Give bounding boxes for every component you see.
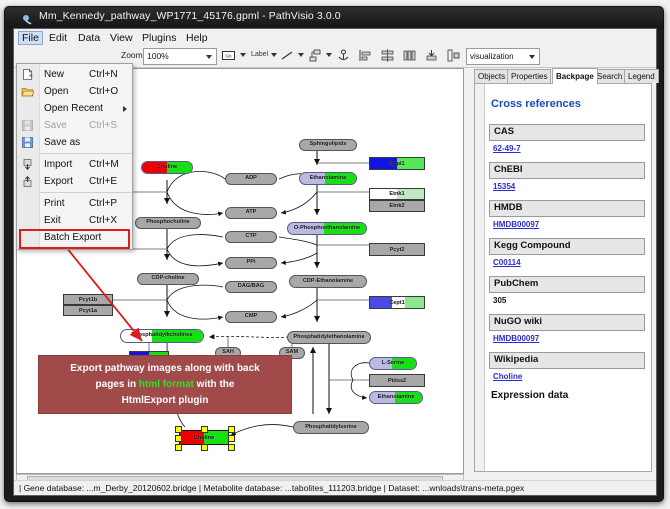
menu-item-open[interactable]: Open Ctrl+O [17,83,132,100]
node-label: ADP [226,176,276,182]
save-as-icon [21,136,34,149]
xref-link[interactable]: HMDB00097 [493,334,539,343]
anchor-tool-icon[interactable] [336,48,351,63]
xref-link[interactable]: C00114 [493,258,521,267]
gene-label: Cept1 [370,300,424,306]
pathvisio-icon [22,12,33,23]
tab-search[interactable]: Search [593,69,626,83]
status-text: | Gene database: ...m_Derby_20120602.bri… [19,483,524,493]
align-middle-tool-icon[interactable] [380,48,395,63]
menu-item-batch-export[interactable]: Batch Export [17,229,132,246]
gene-pcyt2[interactable]: Pcyt2 [369,243,425,256]
align-columns-tool-icon[interactable] [402,48,417,63]
menu-item-accel: Ctrl+M [89,156,119,173]
align-left-tool-icon[interactable] [358,48,373,63]
node-dag-bag[interactable]: DAG/BAG [225,281,277,293]
menu-separator [39,192,132,193]
menu-item-label: Open Recent [44,100,103,117]
visualization-dropdown[interactable]: visualization [466,48,540,65]
menu-view[interactable]: View [106,31,137,45]
annotation-line2-b: with the [194,379,235,390]
node-label: Choline [180,435,228,441]
gene-label: Pcyt1a [64,308,112,314]
svg-text:Gn: Gn [225,54,232,59]
node-label: PPi [226,260,276,266]
node-label: O-Phosphoethanolamine [288,226,366,232]
resize-handle[interactable] [228,444,235,451]
xref-link[interactable]: 15354 [493,182,515,191]
group-tool-icon[interactable] [446,48,461,63]
client-area: File Edit Data View Plugins Help Zoom: 1… [13,28,657,496]
label-tool-text[interactable]: Label [251,51,268,58]
menu-item-print[interactable]: Print Ctrl+P [17,195,132,212]
xref-value-cas: 62-49-7 [493,144,645,153]
node-ethanolamine-bottom[interactable]: Ethanolamine [369,391,423,404]
menu-item-label: Print [44,195,65,212]
cross-references-heading: Cross references [491,98,645,110]
chevron-down-icon [529,55,535,59]
node-label: Choline [142,165,192,171]
backpage-scrollbar[interactable] [475,84,485,471]
gene-etnk1[interactable]: Etnk1 [369,188,425,200]
xref-source-label: PubChem [490,277,644,289]
resize-handle[interactable] [175,426,182,433]
file-menu-dropdown: New Ctrl+N Open Ctrl+O Open Recent Save [16,63,133,250]
menu-item-label: Export [44,173,73,190]
node-label: Ethanolamine [370,395,422,401]
zoom-label: Zoom: [121,50,145,60]
chevron-down-icon [206,55,212,59]
xref-source-label: NuGO wiki [490,315,644,327]
interaction-tool-chevron-icon[interactable] [326,53,332,57]
node-label: L-Serine [370,361,416,367]
node-phosphatidylethanolamine[interactable]: Phosphatidylethanolamine [287,331,371,344]
new-file-icon [21,68,34,81]
panel-tabs: Objects Properties Backpage Search Legen… [474,68,652,83]
menu-item-label: Open [44,83,68,100]
menu-separator [39,153,132,154]
status-bar: | Gene database: ...m_Derby_20120602.bri… [14,480,656,495]
node-label: Phosphocholine [136,220,200,226]
side-panel: Objects Properties Backpage Search Legen… [466,68,652,472]
annotation-highlight: html format [139,379,194,390]
resize-handle[interactable] [201,444,208,451]
menu-item-accel: Ctrl+O [89,83,118,100]
menu-item-new[interactable]: New Ctrl+N [17,66,132,83]
resize-handle[interactable] [175,435,182,442]
gene-sgpl1[interactable]: Sgpl1 [369,157,425,170]
node-sphingolipids[interactable]: Sphingolipids [299,139,357,151]
node-cdp-ethanolamine[interactable]: CDP-Ethanolamine [289,275,367,288]
xref-link[interactable]: Choline [493,372,522,381]
node-choline-bottom-selection[interactable]: Choline [173,425,235,450]
gene-label: Pcyt1b [64,297,112,303]
node-phosphocholine[interactable]: Phosphocholine [135,217,201,229]
menu-item-accel: Ctrl+E [89,173,117,190]
xref-source-chebi: ChEBI [489,162,645,179]
node-cdp-choline[interactable]: CDP-choline [137,273,199,285]
menu-item-export[interactable]: Export Ctrl+E [17,173,132,190]
menu-item-label: Save as [44,134,80,151]
xref-source-label: CAS [490,125,644,137]
save-icon [21,119,34,132]
import-icon [21,158,34,171]
annotation-text: Export pathway images along with back pa… [45,361,285,409]
label-tool-chevron-icon[interactable] [271,53,277,57]
menu-item-batch-export-wrap: Batch Export [17,229,132,246]
node-l-serine[interactable]: L-Serine [369,357,417,370]
menu-item-accel: Ctrl+N [89,66,118,83]
xref-value-wikipedia: Choline [493,372,645,381]
xref-value-pubchem: 305 [493,296,645,305]
open-folder-icon [21,85,34,98]
xref-source-pubchem: PubChem [489,276,645,293]
title-bar: Mm_Kennedy_pathway_WP1771_45176.gpml - P… [5,7,663,29]
menu-item-save: Save Ctrl+S [17,117,132,134]
menu-item-accel: Ctrl+X [89,212,117,229]
node-ppi[interactable]: PPi [225,257,277,269]
zoom-dropdown[interactable]: 100% [143,48,217,65]
tab-legend[interactable]: Legend [624,69,659,83]
xref-value-kegg-compound: C00114 [493,258,645,267]
backpage-panel: Cross references CAS 62-49-7 ChEBI 15354… [474,83,652,472]
stack-tool-icon[interactable] [424,48,439,63]
annotation-banner: Export pathway images along with back pa… [38,355,292,414]
menu-file[interactable]: File [18,31,43,45]
pathvisio-window: Mm_Kennedy_pathway_WP1771_45176.gpml - P… [4,6,664,502]
export-icon [21,175,34,188]
gene-ptdss2[interactable]: Ptdss2 [369,374,425,387]
node-ethanolamine-top[interactable]: Ethanolamine [299,172,357,185]
menu-item-import[interactable]: Import Ctrl+M [17,156,132,173]
gene-label: Sgpl1 [370,161,424,167]
node-choline-top[interactable]: Choline [141,161,193,174]
interaction-tool-icon[interactable] [308,48,323,63]
menu-item-save-as[interactable]: Save as [17,134,132,151]
xref-value-hmdb: HMDB00097 [493,220,645,229]
tab-properties[interactable]: Properties [507,69,551,83]
node-label: Phosphatidylkcholines [121,333,203,339]
node-label: ATP [226,210,276,216]
node-label: Sphingolipids [300,142,356,148]
xref-value-chebi: 15354 [493,182,645,191]
node-label: Phosphatidylserine [294,425,368,431]
node-label: DAG/BAG [226,284,276,290]
menu-item-accel: Ctrl+P [89,195,117,212]
node-label: CTP [226,234,276,240]
menu-item-label: Batch Export [44,229,101,246]
gene-label: Pcyt2 [370,247,424,253]
window-title: Mm_Kennedy_pathway_WP1771_45176.gpml - P… [39,10,341,22]
xref-source-wikipedia: Wikipedia [489,352,645,369]
node-o-phosphoethanolamine[interactable]: O-Phosphoethanolamine [287,222,367,235]
node-label: CMP [226,314,276,320]
menu-item-label: New [44,66,64,83]
datanode-tool-chevron-icon[interactable] [240,53,246,57]
visualization-value: visualization [470,52,514,61]
xref-value-nugo-wiki: HMDB00097 [493,334,645,343]
node-ctp[interactable]: CTP [225,231,277,243]
gene-pcyt1a[interactable]: Pcyt1a [63,305,113,316]
menu-item-exit[interactable]: Exit Ctrl+X [17,212,132,229]
menu-item-accel: Ctrl+S [89,117,117,134]
xref-source-kegg-compound: Kegg Compound [489,238,645,255]
line-tool-icon[interactable] [280,48,295,63]
backpage-content: Cross references CAS 62-49-7 ChEBI 15354… [485,84,651,471]
resize-handle[interactable] [201,426,208,433]
menu-help[interactable]: Help [182,31,212,45]
xref-source-hmdb: HMDB [489,200,645,217]
gene-label: Ptdss2 [370,378,424,384]
gene-label: Etnk1 [370,191,424,197]
menu-plugins[interactable]: Plugins [138,31,180,45]
annotation-line3: HtmlExport plugin [122,395,209,406]
zoom-value: 100% [147,51,169,61]
xref-source-label: ChEBI [490,163,644,175]
annotation-line2-a: pages in [96,379,139,390]
submenu-arrow-icon [123,106,127,112]
node-phosphatidylcholines[interactable]: Phosphatidylkcholines [120,329,204,343]
gene-etnk2[interactable]: Etnk2 [369,200,425,212]
xref-source-label: HMDB [490,201,644,213]
menu-item-label: Exit [44,212,61,229]
line-tool-chevron-icon[interactable] [298,53,304,57]
menu-item-open-recent[interactable]: Open Recent [17,100,132,117]
tab-backpage[interactable]: Backpage [552,68,598,84]
node-adp[interactable]: ADP [225,173,277,185]
resize-handle[interactable] [228,426,235,433]
xref-source-nugo-wiki: NuGO wiki [489,314,645,331]
menu-bar: File Edit Data View Plugins Help [14,29,656,47]
annotation-line1: Export pathway images along with back [70,363,260,374]
tab-objects[interactable]: Objects [474,69,509,83]
node-label: Phosphatidylethanolamine [288,335,370,341]
xref-source-label: Wikipedia [490,353,644,365]
menu-data[interactable]: Data [74,31,104,45]
menu-edit[interactable]: Edit [45,31,71,45]
node-label: CDP-Ethanolamine [290,279,366,285]
datanode-tool-icon[interactable]: Gn [221,48,236,63]
node-atp[interactable]: ATP [225,207,277,219]
resize-handle[interactable] [175,444,182,451]
node-label: CDP-choline [138,276,198,282]
menu-item-label: Import [44,156,72,173]
gene-pcyt1b[interactable]: Pcyt1b [63,294,113,305]
xref-link[interactable]: 62-49-7 [493,144,521,153]
xref-link[interactable]: HMDB00097 [493,220,539,229]
node-cmp[interactable]: CMP [225,311,277,323]
node-phosphatidylserine[interactable]: Phosphatidylserine [293,421,369,434]
gene-cept1[interactable]: Cept1 [369,296,425,309]
xref-source-label: Kegg Compound [490,239,644,251]
node-label: Ethanolamine [300,176,356,182]
gene-label: Etnk2 [370,203,424,209]
xref-source-cas: CAS [489,124,645,141]
menu-item-label: Save [44,117,67,134]
expression-data-heading: Expression data [491,390,645,401]
resize-handle[interactable] [228,435,235,442]
